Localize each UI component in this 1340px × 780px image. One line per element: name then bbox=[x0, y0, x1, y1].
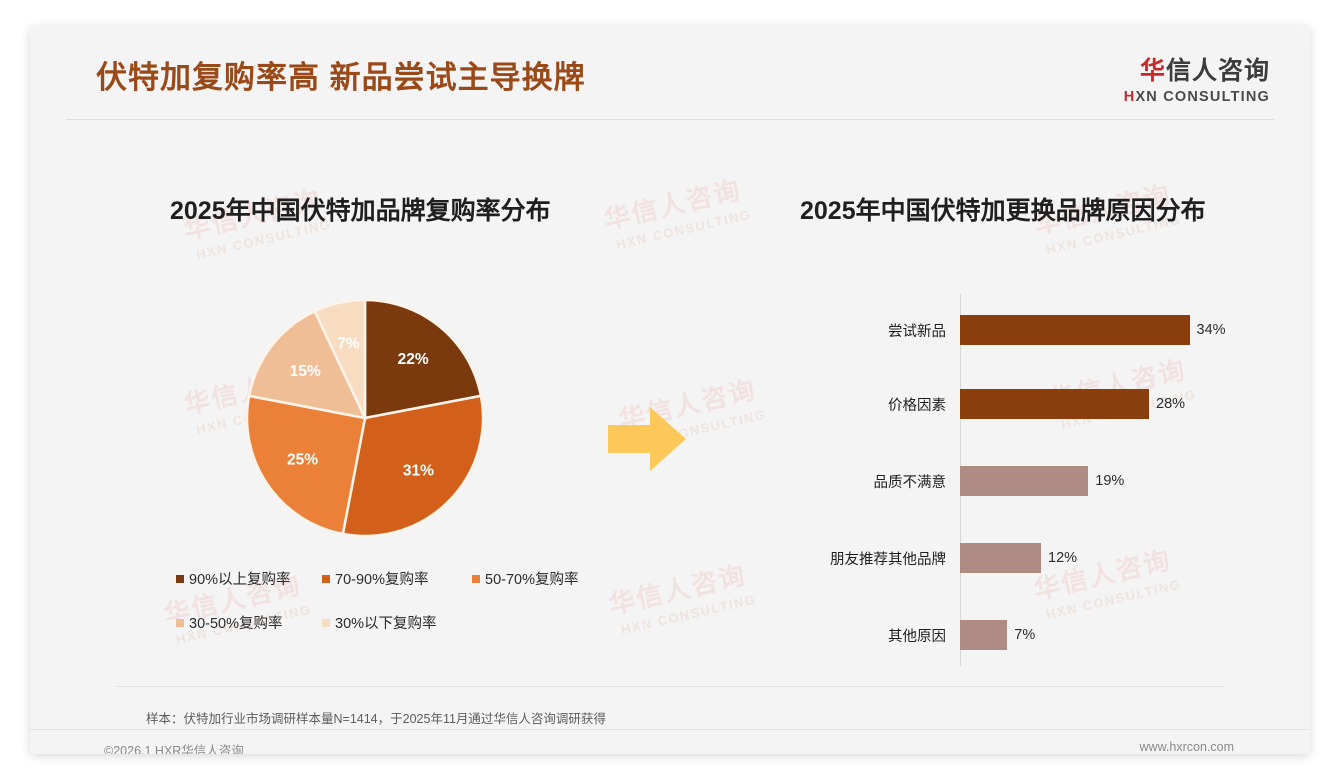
bar-value-label: 28% bbox=[1156, 396, 1185, 412]
bar-fill[interactable] bbox=[960, 543, 1041, 573]
pie-chart-title: 2025年中国伏特加品牌复购率分布 bbox=[170, 191, 551, 227]
footer-divider bbox=[30, 729, 1310, 730]
bar-category-label: 价格因素 bbox=[802, 394, 954, 415]
footnote-divider bbox=[116, 686, 1224, 687]
pie-slice-label: 22% bbox=[398, 351, 429, 368]
bar-category-label: 其他原因 bbox=[802, 625, 954, 646]
bar-track: 34% bbox=[960, 310, 1272, 350]
bar-value-label: 19% bbox=[1095, 473, 1124, 489]
watermark: 华信人咨询 HXN CONSULTING bbox=[600, 169, 753, 254]
bar-chart-title: 2025年中国伏特加更换品牌原因分布 bbox=[800, 191, 1206, 227]
bar-row-3: 朋友推荐其他品牌 12% bbox=[802, 538, 1272, 578]
legend-row: 90%以上复购率 70-90%复购率 50-70%复购率 bbox=[176, 568, 596, 589]
legend-item-1[interactable]: 70-90%复购率 bbox=[322, 568, 472, 589]
bar-row-1: 价格因素 28% bbox=[802, 384, 1272, 424]
bar-fill[interactable] bbox=[960, 315, 1190, 345]
logo-hua-char: 华 bbox=[1140, 57, 1166, 85]
logo-chinese: 华信人咨询 bbox=[1090, 58, 1270, 86]
pie-slice-label: 7% bbox=[337, 335, 360, 352]
bar-value-label: 12% bbox=[1048, 550, 1077, 566]
slide-card: 华信人咨询 HXN CONSULTING 华信人咨询 HXN CONSULTIN… bbox=[30, 26, 1310, 754]
bar-category-label: 朋友推荐其他品牌 bbox=[802, 548, 954, 569]
legend-item-0[interactable]: 90%以上复购率 bbox=[176, 568, 322, 589]
bar-track: 28% bbox=[960, 384, 1272, 424]
bar-fill[interactable] bbox=[960, 620, 1007, 650]
legend-swatch-icon bbox=[472, 575, 480, 583]
bar-fill[interactable] bbox=[960, 466, 1088, 496]
pie-chart: 22%31%25%15%7% bbox=[235, 298, 495, 538]
website-link[interactable]: www.hxrcon.com bbox=[1140, 740, 1234, 754]
legend-swatch-icon bbox=[322, 619, 330, 627]
watermark-en: HXN CONSULTING bbox=[620, 592, 758, 638]
pie-slice-label: 15% bbox=[290, 363, 321, 380]
pie-slice-label: 25% bbox=[287, 452, 318, 469]
right-arrow-icon bbox=[608, 404, 686, 474]
bar-value-label: 7% bbox=[1014, 627, 1035, 643]
bar-category-label: 品质不满意 bbox=[802, 471, 954, 492]
legend-label: 30%以下复购率 bbox=[335, 612, 437, 633]
bar-track: 12% bbox=[960, 538, 1272, 578]
watermark-cn: 华信人咨询 bbox=[605, 554, 754, 623]
legend-swatch-icon bbox=[322, 575, 330, 583]
watermark-cn: 华信人咨询 bbox=[600, 169, 749, 238]
slide-root: 华信人咨询 HXN CONSULTING 华信人咨询 HXN CONSULTIN… bbox=[0, 0, 1340, 780]
bar-chart: 尝试新品 34% 价格因素 28% 品质不满意 19% bbox=[802, 294, 1272, 666]
bar-row-0: 尝试新品 34% bbox=[802, 310, 1272, 350]
legend-label: 30-50%复购率 bbox=[189, 612, 282, 633]
pie-legend: 90%以上复购率 70-90%复购率 50-70%复购率 30-50%复购率 bbox=[176, 568, 596, 656]
bar-row-4: 其他原因 7% bbox=[802, 615, 1272, 655]
logo-english-rest: XN CONSULTING bbox=[1135, 89, 1270, 105]
slide-header: 伏特加复购率高 新品尝试主导换牌 华信人咨询 HXN CONSULTING bbox=[30, 26, 1310, 118]
bar-row-2: 品质不满意 19% bbox=[802, 461, 1272, 501]
legend-item-2[interactable]: 50-70%复购率 bbox=[472, 568, 578, 589]
legend-label: 50-70%复购率 bbox=[485, 568, 578, 589]
right-arrow-svg bbox=[608, 404, 686, 474]
logo-chinese-rest: 信人咨询 bbox=[1166, 57, 1270, 85]
copyright-text: ©2026.1 HXR华信人咨询 bbox=[104, 740, 244, 754]
bar-track: 19% bbox=[960, 461, 1272, 501]
pie-slice-label: 31% bbox=[403, 462, 434, 479]
logo-english: HXN CONSULTING bbox=[1090, 89, 1270, 105]
legend-label: 70-90%复购率 bbox=[335, 568, 428, 589]
legend-item-4[interactable]: 30%以下复购率 bbox=[322, 612, 437, 633]
bar-fill[interactable] bbox=[960, 389, 1149, 419]
bar-category-label: 尝试新品 bbox=[802, 320, 954, 341]
sample-note: 样本：伏特加行业市场调研样本量N=1414，于2025年11月通过华信人咨询调研… bbox=[146, 708, 606, 727]
legend-row: 30-50%复购率 30%以下复购率 bbox=[176, 612, 596, 633]
watermark-en: HXN CONSULTING bbox=[615, 207, 753, 253]
page-title: 伏特加复购率高 新品尝试主导换牌 bbox=[96, 52, 586, 97]
watermark: 华信人咨询 HXN CONSULTING bbox=[605, 554, 758, 639]
bar-value-label: 34% bbox=[1197, 322, 1226, 338]
logo-h-char: H bbox=[1124, 89, 1136, 105]
legend-swatch-icon bbox=[176, 575, 184, 583]
legend-swatch-icon bbox=[176, 619, 184, 627]
pie-chart-svg: 22%31%25%15%7% bbox=[235, 298, 495, 538]
legend-item-3[interactable]: 30-50%复购率 bbox=[176, 612, 322, 633]
header-divider bbox=[66, 119, 1274, 120]
legend-label: 90%以上复购率 bbox=[189, 568, 291, 589]
company-logo: 华信人咨询 HXN CONSULTING bbox=[1090, 58, 1270, 105]
bar-track: 7% bbox=[960, 615, 1272, 655]
